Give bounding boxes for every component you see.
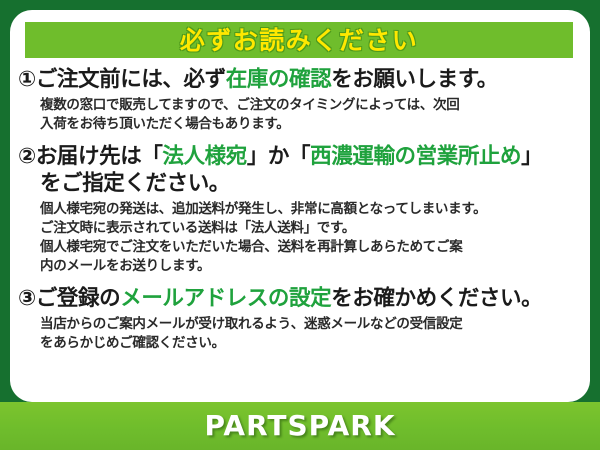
notice-item-3-head-highlight: メールアドレスの設定 bbox=[120, 286, 331, 311]
notice-content: ①ご注文前には、必ず在庫の確認をお願いします。 複数の窓口で販売してますので、ご… bbox=[10, 66, 590, 355]
notice-item-1-marker: ① bbox=[18, 67, 36, 92]
notice-item-2-detail-line-1: 個人様宅宛の発送は、追加送料が発生し、非常に高額となってしまいます。 bbox=[40, 200, 576, 219]
notice-item-1-detail: 複数の窓口で販売してますので、ご注文のタイミングによっては、次回 入荷をお待ち頂… bbox=[18, 96, 576, 134]
brand-logo-text: PARTSPARK bbox=[204, 412, 395, 440]
notice-item-2-heading: ②お届け先は「法人様宛」か「西濃運輸の営業所止め」 をご指定ください。 bbox=[18, 143, 576, 198]
notice-item-1: ①ご注文前には、必ず在庫の確認をお願いします。 複数の窓口で販売してますので、ご… bbox=[18, 66, 576, 134]
notice-item-3-detail: 当店からのご案内メールが受け取れるよう、迷惑メールなどの受信設定 をあらかじめご… bbox=[18, 315, 576, 353]
header-title: 必ずお読みください bbox=[180, 28, 419, 53]
notice-item-2-head-pre: お届け先は「 bbox=[36, 144, 163, 169]
notice-item-1-head-pre: ご注文前には、必ず bbox=[36, 67, 226, 92]
notice-item-2-head-highlight-1: 法人様宛 bbox=[162, 144, 246, 169]
notice-banner: 必ずお読みください ①ご注文前には、必ず在庫の確認をお願いします。 複数の窓口で… bbox=[0, 0, 600, 450]
notice-item-2-head-mid: 」か「 bbox=[247, 144, 310, 169]
notice-item-3: ③ご登録のメールアドレスの設定をお確かめください。 当店からのご案内メールが受け… bbox=[18, 285, 576, 353]
notice-item-3-detail-line-1: 当店からのご案内メールが受け取れるよう、迷惑メールなどの受信設定 bbox=[40, 315, 576, 334]
notice-item-3-marker: ③ bbox=[18, 286, 36, 311]
notice-item-2-detail: 個人様宅宛の発送は、追加送料が発生し、非常に高額となってしまいます。 ご注文時に… bbox=[18, 200, 576, 277]
notice-item-2-head-line-2: をご指定ください。 bbox=[18, 170, 576, 198]
notice-item-2-detail-line-4: 内のメールをお送りします。 bbox=[40, 257, 576, 276]
notice-item-2-marker: ② bbox=[18, 144, 36, 169]
notice-item-1-heading: ①ご注文前には、必ず在庫の確認をお願いします。 bbox=[18, 66, 576, 94]
notice-item-1-head-post: をお願いします。 bbox=[331, 67, 498, 92]
notice-item-2-detail-line-3: 個人様宅宛でご注文をいただいた場合、送料を再計算しあらためてご案 bbox=[40, 238, 576, 257]
notice-item-2-head-highlight-2: 西濃運輸の営業所止め bbox=[310, 144, 521, 169]
notice-item-2: ②お届け先は「法人様宛」か「西濃運輸の営業所止め」 をご指定ください。 個人様宅… bbox=[18, 143, 576, 277]
notice-item-3-heading: ③ご登録のメールアドレスの設定をお確かめください。 bbox=[18, 285, 576, 313]
footer-brand-bar: PARTSPARK bbox=[0, 402, 600, 450]
notice-item-2-detail-line-2: ご注文時に表示されている送料は「法人送料」です。 bbox=[40, 219, 576, 238]
notice-item-3-head-pre: ご登録の bbox=[36, 286, 120, 311]
notice-card: 必ずお読みください ①ご注文前には、必ず在庫の確認をお願いします。 複数の窓口で… bbox=[10, 10, 590, 402]
notice-item-1-detail-line-1: 複数の窓口で販売してますので、ご注文のタイミングによっては、次回 bbox=[40, 96, 576, 115]
notice-item-1-head-highlight: 在庫の確認 bbox=[226, 67, 332, 92]
notice-item-2-head-post: 」 bbox=[521, 144, 542, 169]
notice-item-3-head-post: をお確かめください。 bbox=[331, 286, 542, 311]
notice-item-1-detail-line-2: 入荷をお待ち頂いただく場合もあります。 bbox=[40, 115, 576, 134]
header-band: 必ずお読みください bbox=[25, 22, 573, 58]
notice-item-3-detail-line-2: をあらかじめご確認ください。 bbox=[40, 334, 576, 353]
